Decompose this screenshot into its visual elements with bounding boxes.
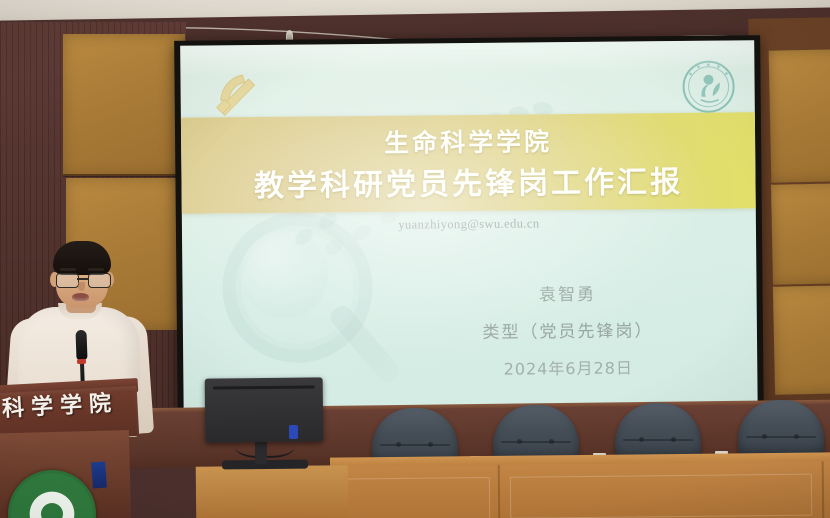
blue-flag-icon [91, 462, 107, 489]
magnifying-glass-watermark-icon [222, 212, 373, 363]
conference-table-front [330, 461, 830, 518]
wall-panel [773, 285, 830, 395]
wall-panel [771, 183, 830, 285]
wall-panel [769, 49, 830, 183]
panel-seam [63, 174, 185, 177]
computer-monitor-rear-icon[interactable] [205, 377, 324, 442]
slide-title-line1: 生命科学学院 [181, 120, 755, 162]
slide-title-line2: 教学科研党员先锋岗工作汇报 [181, 156, 755, 206]
university-seal-icon [680, 58, 737, 115]
presenter-name: 袁智勇 [402, 278, 732, 306]
speaker-mouth [72, 293, 89, 301]
microphone-indicator [77, 359, 86, 364]
microphone-icon [75, 330, 87, 360]
presentation-date: 2024年6月28日 [403, 353, 733, 380]
cpc-party-emblem-icon [204, 69, 266, 118]
wall-panel [63, 34, 185, 176]
lecture-hall-photo: 生命科学学院 教学科研党员先锋岗工作汇报 yuanzhiyong@swu.edu… [0, 0, 830, 518]
monitor-cable-connector [289, 425, 298, 439]
presenter-type: 类型（党员先锋岗） [403, 315, 733, 343]
projected-slide: 生命科学学院 教学科研党员先锋岗工作汇报 yuanzhiyong@swu.edu… [180, 40, 758, 427]
monitor-desk [196, 465, 349, 518]
slide-title-band: 生命科学学院 教学科研党员先锋岗工作汇报 [181, 112, 756, 214]
projection-screen-frame: 生命科学学院 教学科研党员先锋岗工作汇报 yuanzhiyong@swu.edu… [174, 35, 764, 433]
presenter-email: yuanzhiyong@swu.edu.cn [182, 214, 756, 235]
speaker-nose [78, 282, 85, 291]
speaker-eyebrow [88, 268, 104, 271]
speaker-eyebrow [60, 268, 76, 271]
